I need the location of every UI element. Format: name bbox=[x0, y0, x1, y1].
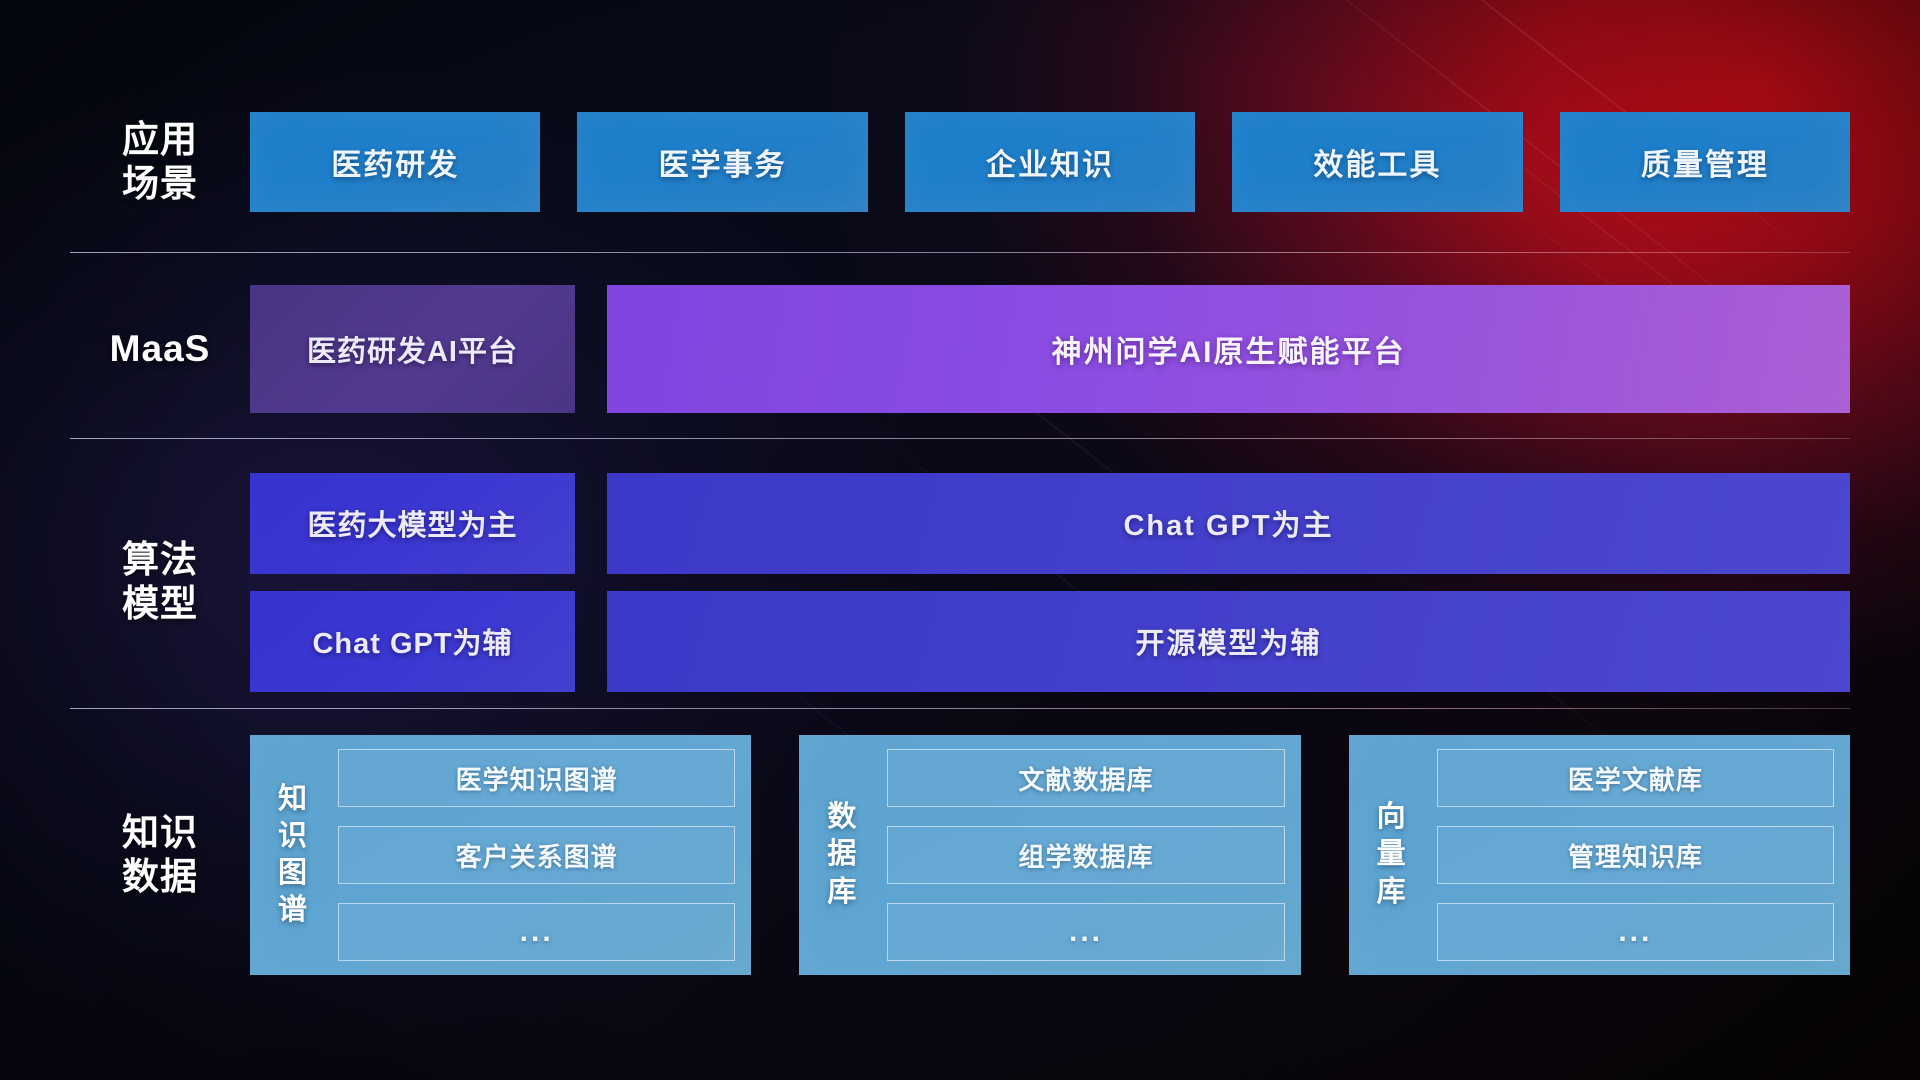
knowledge-item-list-vector-store: 医学文献库 管理知识库 ... bbox=[1423, 749, 1834, 961]
knowledge-panel-side-label-vector-store: 向 量 库 bbox=[1361, 749, 1423, 961]
layer-row-knowledge: 知识 数据 知 识 图 谱 医学知识图谱 客户关系图谱 ... 数 据 bbox=[70, 735, 1850, 975]
knowledge-item-management-knowledge-store[interactable]: 管理知识库 bbox=[1437, 826, 1834, 884]
algorithm-box-wrap: 医药大模型为主 Chat GPT为主 Chat GPT为辅 开源模型为辅 bbox=[250, 473, 1850, 692]
knowledge-item-more-database[interactable]: ... bbox=[887, 903, 1284, 961]
application-box-medical-affairs[interactable]: 医学事务 bbox=[577, 112, 867, 212]
row-label-algorithm: 算法 模型 bbox=[70, 538, 250, 625]
knowledge-panel-side-label-knowledge-graph: 知 识 图 谱 bbox=[262, 749, 324, 961]
application-row-body: 医药研发 医学事务 企业知识 效能工具 质量管理 bbox=[250, 112, 1850, 212]
divider-app-maas bbox=[70, 252, 1850, 253]
algorithm-row-body: 医药大模型为主 Chat GPT为主 Chat GPT为辅 开源模型为辅 bbox=[250, 473, 1850, 692]
knowledge-row-body: 知 识 图 谱 医学知识图谱 客户关系图谱 ... 数 据 库 文献数据库 组学… bbox=[250, 735, 1850, 975]
maas-box-shenzhou-wenxue-platform[interactable]: 神州问学AI原生赋能平台 bbox=[607, 285, 1850, 413]
layer-row-algorithm: 算法 模型 医药大模型为主 Chat GPT为主 Chat GPT为辅 开源模型… bbox=[70, 462, 1850, 702]
knowledge-item-literature-database[interactable]: 文献数据库 bbox=[887, 749, 1284, 807]
knowledge-item-omics-database[interactable]: 组学数据库 bbox=[887, 826, 1284, 884]
algorithm-box-medicine-llm-primary[interactable]: 医药大模型为主 bbox=[250, 473, 575, 574]
knowledge-panel-database[interactable]: 数 据 库 文献数据库 组学数据库 ... bbox=[799, 735, 1300, 975]
application-box-enterprise-knowledge[interactable]: 企业知识 bbox=[905, 112, 1195, 212]
knowledge-item-more-vector-store[interactable]: ... bbox=[1437, 903, 1834, 961]
algorithm-line-secondary: Chat GPT为辅 开源模型为辅 bbox=[250, 591, 1850, 692]
knowledge-panel-strip: 知 识 图 谱 医学知识图谱 客户关系图谱 ... 数 据 库 文献数据库 组学… bbox=[250, 735, 1850, 975]
knowledge-item-list-knowledge-graph: 医学知识图谱 客户关系图谱 ... bbox=[324, 749, 735, 961]
knowledge-panel-side-label-database: 数 据 库 bbox=[811, 749, 873, 961]
application-box-strip: 医药研发 医学事务 企业知识 效能工具 质量管理 bbox=[250, 112, 1850, 212]
maas-box-medicine-ai-platform[interactable]: 医药研发AI平台 bbox=[250, 285, 575, 413]
knowledge-panel-knowledge-graph[interactable]: 知 识 图 谱 医学知识图谱 客户关系图谱 ... bbox=[250, 735, 751, 975]
layer-row-maas: MaaS 医药研发AI平台 神州问学AI原生赋能平台 bbox=[70, 285, 1850, 413]
knowledge-item-more-knowledge-graph[interactable]: ... bbox=[338, 903, 735, 961]
algorithm-box-opensource-secondary[interactable]: 开源模型为辅 bbox=[607, 591, 1850, 692]
row-label-knowledge: 知识 数据 bbox=[70, 811, 250, 898]
knowledge-item-medical-knowledge-graph[interactable]: 医学知识图谱 bbox=[338, 749, 735, 807]
algorithm-box-chatgpt-primary[interactable]: Chat GPT为主 bbox=[607, 473, 1850, 574]
knowledge-item-list-database: 文献数据库 组学数据库 ... bbox=[873, 749, 1284, 961]
application-box-quality-management[interactable]: 质量管理 bbox=[1560, 112, 1850, 212]
knowledge-panel-vector-store[interactable]: 向 量 库 医学文献库 管理知识库 ... bbox=[1349, 735, 1850, 975]
maas-box-strip: 医药研发AI平台 神州问学AI原生赋能平台 bbox=[250, 285, 1850, 413]
divider-algo-know bbox=[70, 708, 1850, 709]
maas-row-body: 医药研发AI平台 神州问学AI原生赋能平台 bbox=[250, 285, 1850, 413]
divider-maas-algo bbox=[70, 438, 1850, 439]
application-box-efficiency-tools[interactable]: 效能工具 bbox=[1232, 112, 1522, 212]
algorithm-line-primary: 医药大模型为主 Chat GPT为主 bbox=[250, 473, 1850, 574]
knowledge-item-customer-relation-graph[interactable]: 客户关系图谱 bbox=[338, 826, 735, 884]
knowledge-item-medical-literature-store[interactable]: 医学文献库 bbox=[1437, 749, 1834, 807]
row-label-application: 应用 场景 bbox=[70, 118, 250, 205]
diagram-canvas: 应用 场景 医药研发 医学事务 企业知识 效能工具 质量管理 MaaS 医药研发… bbox=[0, 0, 1920, 1080]
algorithm-box-chatgpt-secondary[interactable]: Chat GPT为辅 bbox=[250, 591, 575, 692]
application-box-medicine-rd[interactable]: 医药研发 bbox=[250, 112, 540, 212]
layer-row-application: 应用 场景 医药研发 医学事务 企业知识 效能工具 质量管理 bbox=[70, 102, 1850, 222]
row-label-maas: MaaS bbox=[70, 327, 250, 371]
